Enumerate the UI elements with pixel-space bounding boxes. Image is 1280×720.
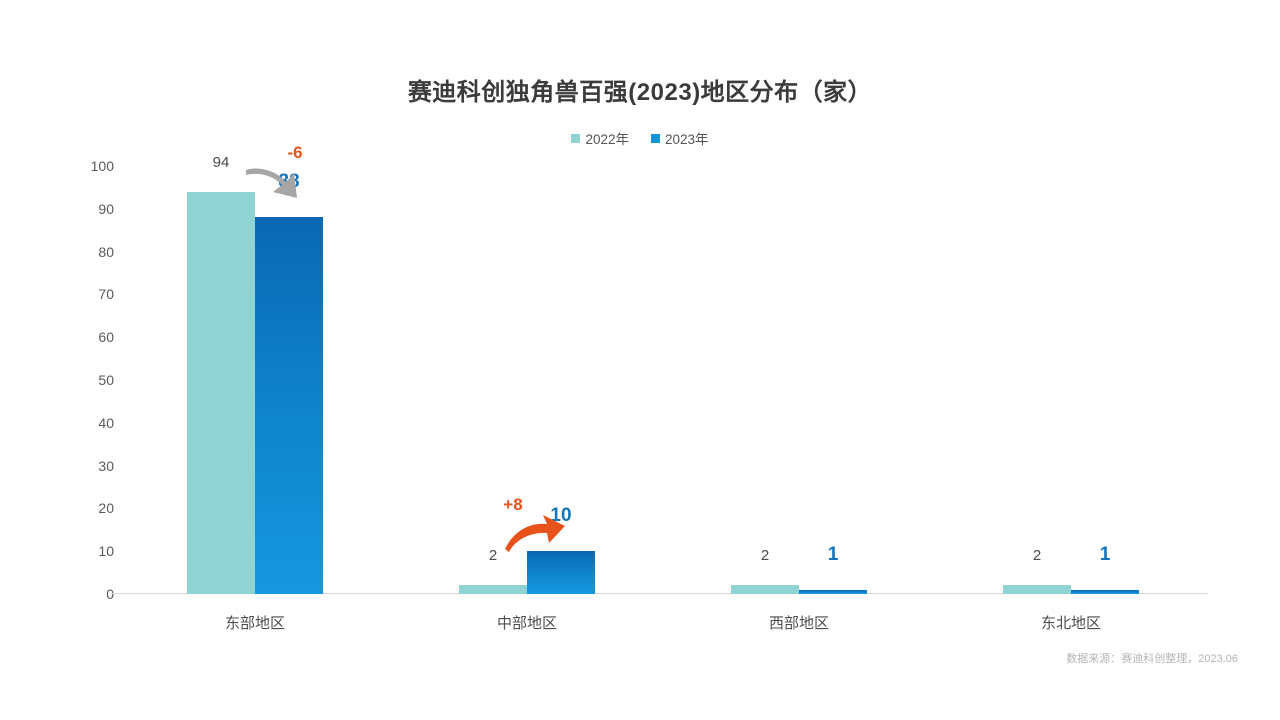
y-tick-40: 40	[66, 416, 114, 430]
legend-swatch-icon-2022	[571, 134, 580, 143]
bar-group-central: 2 10 +8	[459, 166, 595, 594]
legend-item-2022[interactable]: 2022年	[571, 133, 629, 147]
bar-group-northeast: 2 1	[1003, 166, 1139, 594]
legend-item-2023[interactable]: 2023年	[651, 133, 709, 147]
bar-2022-central[interactable]	[459, 585, 527, 594]
y-tick-90: 90	[66, 202, 114, 216]
chart-container: 赛迪科创独角兽百强(2023)地区分布（家） 2022年 2023年 100 9…	[0, 0, 1280, 720]
legend-label-2022: 2022年	[585, 133, 629, 147]
x-label-central: 中部地区	[427, 612, 627, 633]
y-tick-0: 0	[66, 587, 114, 601]
legend-swatch-icon-2023	[651, 134, 660, 143]
y-tick-30: 30	[66, 459, 114, 473]
y-tick-20: 20	[66, 501, 114, 515]
y-tick-70: 70	[66, 287, 114, 301]
bar-2023-west[interactable]	[799, 590, 867, 594]
bar-2023-east[interactable]	[255, 217, 323, 594]
arrow-down-icon-east	[242, 164, 312, 206]
bar-2022-east[interactable]	[187, 192, 255, 594]
x-label-northeast: 东北地区	[971, 612, 1171, 633]
bar-group-west: 2 1	[731, 166, 867, 594]
y-axis: 100 90 80 70 60 50 40 30 20 10 0	[66, 166, 114, 594]
delta-label-central: +8	[453, 496, 573, 513]
bar-2022-northeast[interactable]	[1003, 585, 1071, 594]
legend-label-2023: 2023年	[665, 133, 709, 147]
plot-area: 94 88 -6 2 10 +8 2 1	[120, 166, 1208, 594]
y-tick-10: 10	[66, 544, 114, 558]
y-tick-60: 60	[66, 330, 114, 344]
chart-title: 赛迪科创独角兽百强(2023)地区分布（家）	[0, 72, 1280, 107]
y-tick-80: 80	[66, 245, 114, 259]
y-tick-50: 50	[66, 373, 114, 387]
y-tick-100: 100	[66, 159, 114, 173]
x-axis-categories: 东部地区 中部地区 西部地区 东北地区	[120, 612, 1208, 638]
bar-2022-west[interactable]	[731, 585, 799, 594]
delta-label-east: -6	[235, 144, 355, 161]
bar-group-east: 94 88 -6	[187, 166, 323, 594]
bar-value-2023-northeast: 1	[1060, 545, 1150, 564]
arrow-up-icon-central	[503, 514, 567, 556]
x-label-east: 东部地区	[155, 612, 355, 633]
x-label-west: 西部地区	[699, 612, 899, 633]
source-note: 数据来源：赛迪科创整理，2023.06	[1066, 650, 1238, 666]
bar-2023-northeast[interactable]	[1071, 590, 1139, 594]
chart-legend: 2022年 2023年	[0, 133, 1280, 147]
bar-value-2023-west: 1	[788, 545, 878, 564]
